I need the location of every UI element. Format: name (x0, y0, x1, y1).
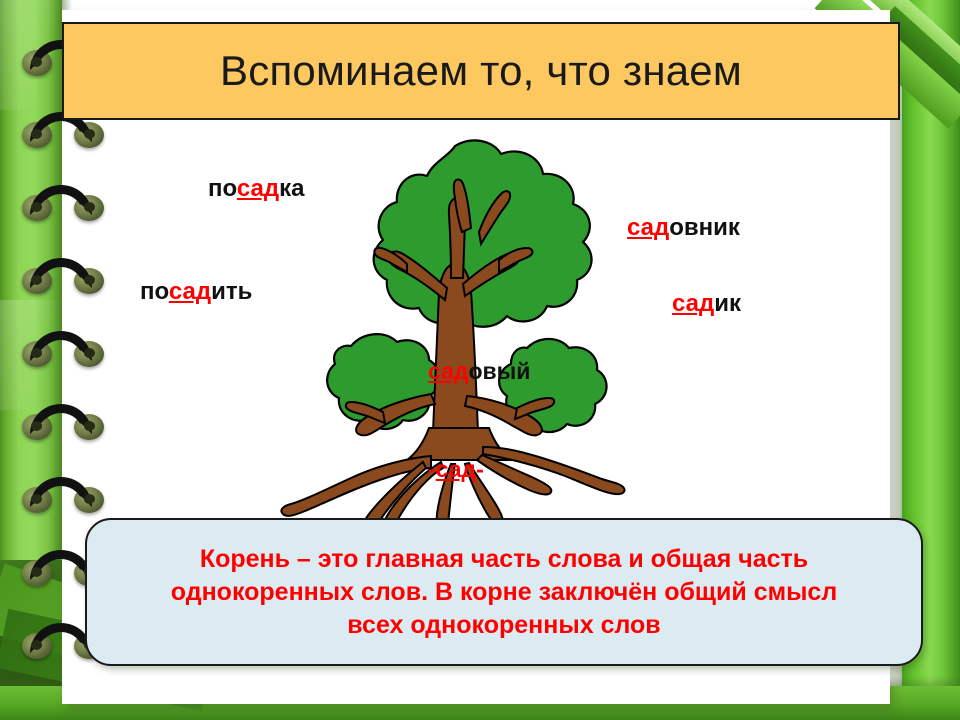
spiral-ring-hole-left (31, 202, 42, 212)
word-label-sad-root: -сад- (428, 456, 484, 483)
word-root: сад (436, 456, 476, 482)
spiral-ring (22, 258, 58, 288)
spiral-ring-hole-right (84, 129, 95, 139)
word-root: сад (672, 290, 714, 317)
slide-root: Вспоминаем то, что знаем (0, 0, 960, 720)
spiral-ring-hole-right (84, 275, 95, 285)
spiral-ring (22, 477, 58, 507)
word-label-posadka: посадка (208, 175, 304, 203)
spiral-ring-hole-right (84, 348, 95, 358)
spiral-ring-hole-right (84, 494, 95, 504)
spiral-ring-hole-left (31, 348, 42, 358)
spiral-ring (22, 331, 58, 361)
spiral-ring-hole-left (31, 494, 42, 504)
definition-box: Корень – это главная часть слова и общая… (85, 518, 923, 666)
word-label-posadit: посадить (140, 278, 252, 306)
spiral-ring (22, 550, 58, 580)
word-prefix: по (140, 278, 169, 305)
spiral-ring-hole-left (31, 567, 42, 577)
word-root: сад (169, 278, 211, 305)
spiral-ring (22, 112, 58, 142)
word-suffix: овый (468, 358, 530, 384)
spiral-ring-hole-left (31, 640, 42, 650)
word-label-sadik: садик (672, 290, 741, 318)
spiral-ring-hole-left (31, 57, 42, 67)
word-prefix: - (428, 456, 436, 482)
spiral-ring (22, 623, 58, 653)
spiral-ring (22, 185, 58, 215)
word-root: сад (627, 214, 669, 241)
spiral-ring (22, 40, 58, 70)
word-suffix: ка (279, 175, 304, 202)
word-label-sadovyy: садовый (428, 358, 530, 385)
word-root: сад (237, 175, 279, 202)
definition-line: однокоренных слов. В корне заключён общи… (171, 576, 837, 609)
word-suffix: ить (211, 278, 252, 305)
word-suffix: ик (714, 290, 741, 317)
word-root: сад (428, 358, 468, 384)
page-title: Вспоминаем то, что знаем (220, 47, 742, 95)
word-prefix: по (208, 175, 237, 202)
definition-line: всех однокоренных слов (347, 609, 660, 642)
word-suffix: овник (669, 214, 740, 241)
spiral-ring-hole-right (84, 202, 95, 212)
spiral-ring-hole-left (31, 421, 42, 431)
title-banner: Вспоминаем то, что знаем (62, 22, 900, 120)
word-suffix: - (476, 456, 484, 482)
word-label-sadovnik: садовник (627, 214, 740, 242)
spiral-ring (22, 404, 58, 434)
spiral-ring-hole-right (84, 421, 95, 431)
spiral-ring-hole-left (31, 275, 42, 285)
definition-line: Корень – это главная часть слова и общая… (200, 543, 808, 576)
spiral-ring-hole-left (31, 129, 42, 139)
